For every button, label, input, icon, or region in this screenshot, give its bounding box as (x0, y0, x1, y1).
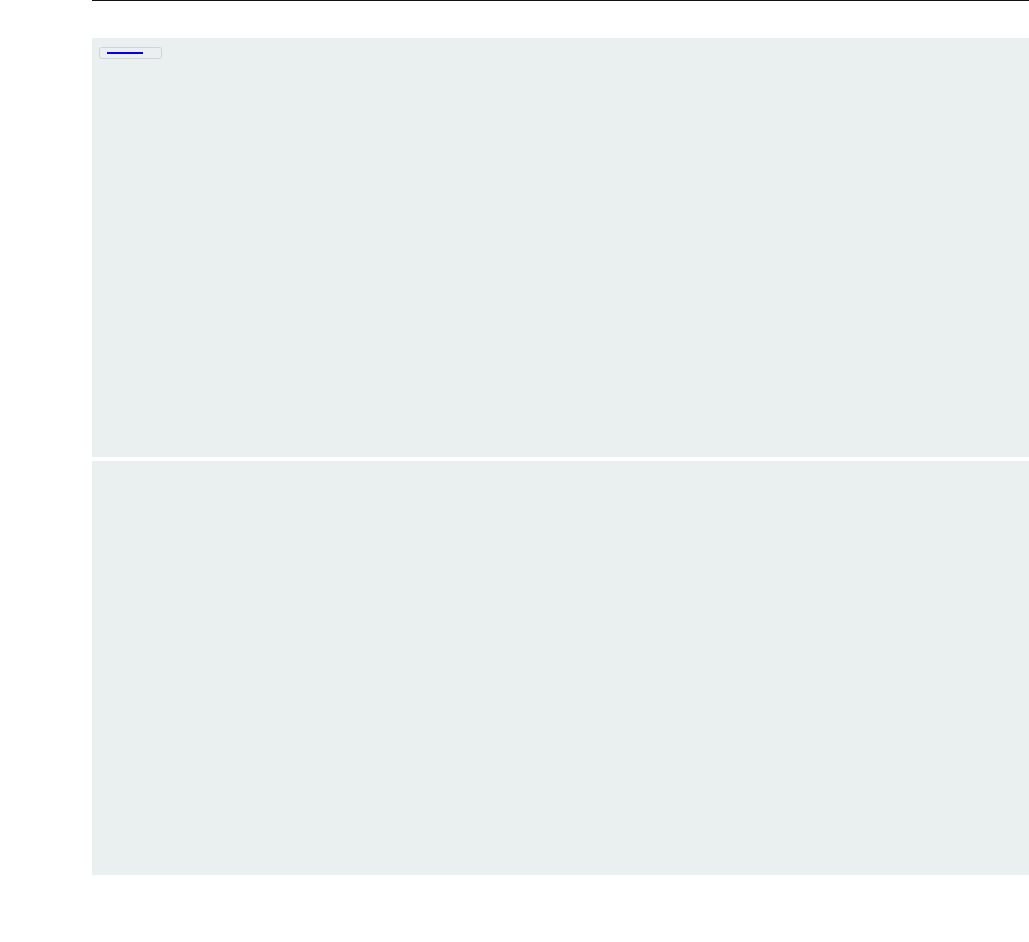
zero-baseline (92, 0, 1029, 1)
box-plot-panel (92, 38, 1029, 457)
y-axis-top (0, 38, 92, 457)
legend-line-swatch (107, 52, 143, 54)
y-axis-bottom (0, 461, 92, 875)
legend[interactable] (99, 47, 162, 59)
bar-chart-panel (92, 461, 1029, 875)
series-overlay-top (92, 38, 1029, 457)
